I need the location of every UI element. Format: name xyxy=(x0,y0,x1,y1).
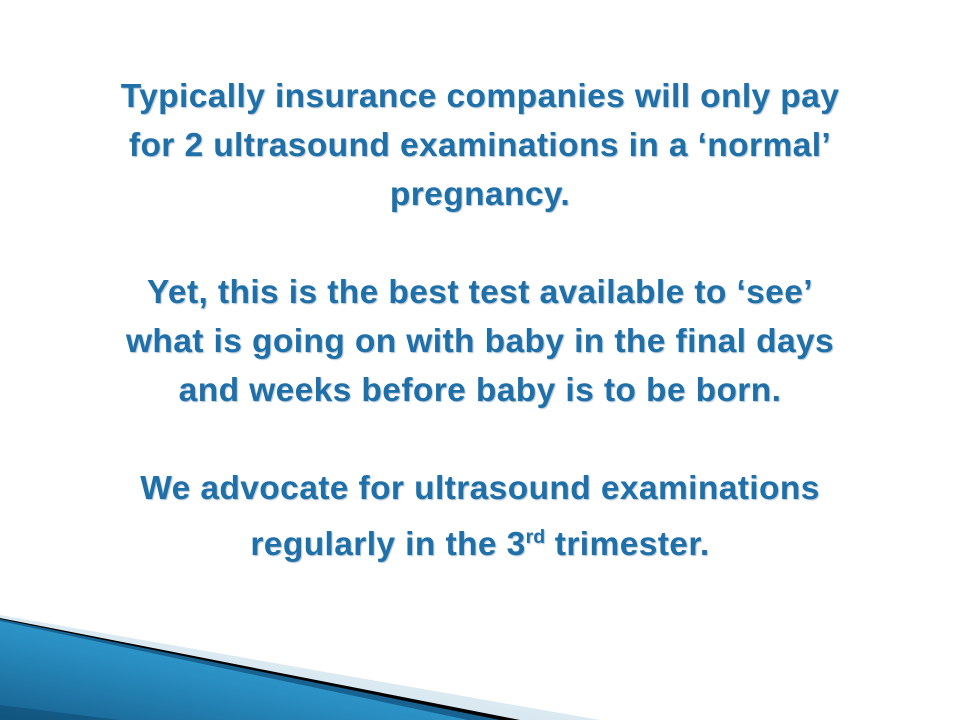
corner-decoration-graphic xyxy=(0,585,600,720)
ordinal-suffix: rd xyxy=(526,526,545,548)
text-line-tail: trimester. xyxy=(545,526,710,563)
text-line-blank xyxy=(50,219,910,268)
slide-body-text: Typically insurance companies will only … xyxy=(50,72,910,569)
text-line: Yet, this is the best test available to … xyxy=(50,268,910,317)
slide: Typically insurance companies will only … xyxy=(0,0,960,720)
text-line: pregnancy. xyxy=(50,170,910,219)
text-line: what is going on with baby in the final … xyxy=(50,317,910,366)
text-line-prefix: regularly in the 3 xyxy=(250,526,525,563)
text-line-ordinal: regularly in the 3rd trimester. xyxy=(50,513,910,569)
text-line: We advocate for ultrasound examinations xyxy=(50,464,910,513)
text-line-blank xyxy=(50,415,910,464)
text-line: and weeks before baby is to be born. xyxy=(50,366,910,415)
text-line: Typically insurance companies will only … xyxy=(50,72,910,121)
text-line: for 2 ultrasound examinations in a ‘norm… xyxy=(50,121,910,170)
